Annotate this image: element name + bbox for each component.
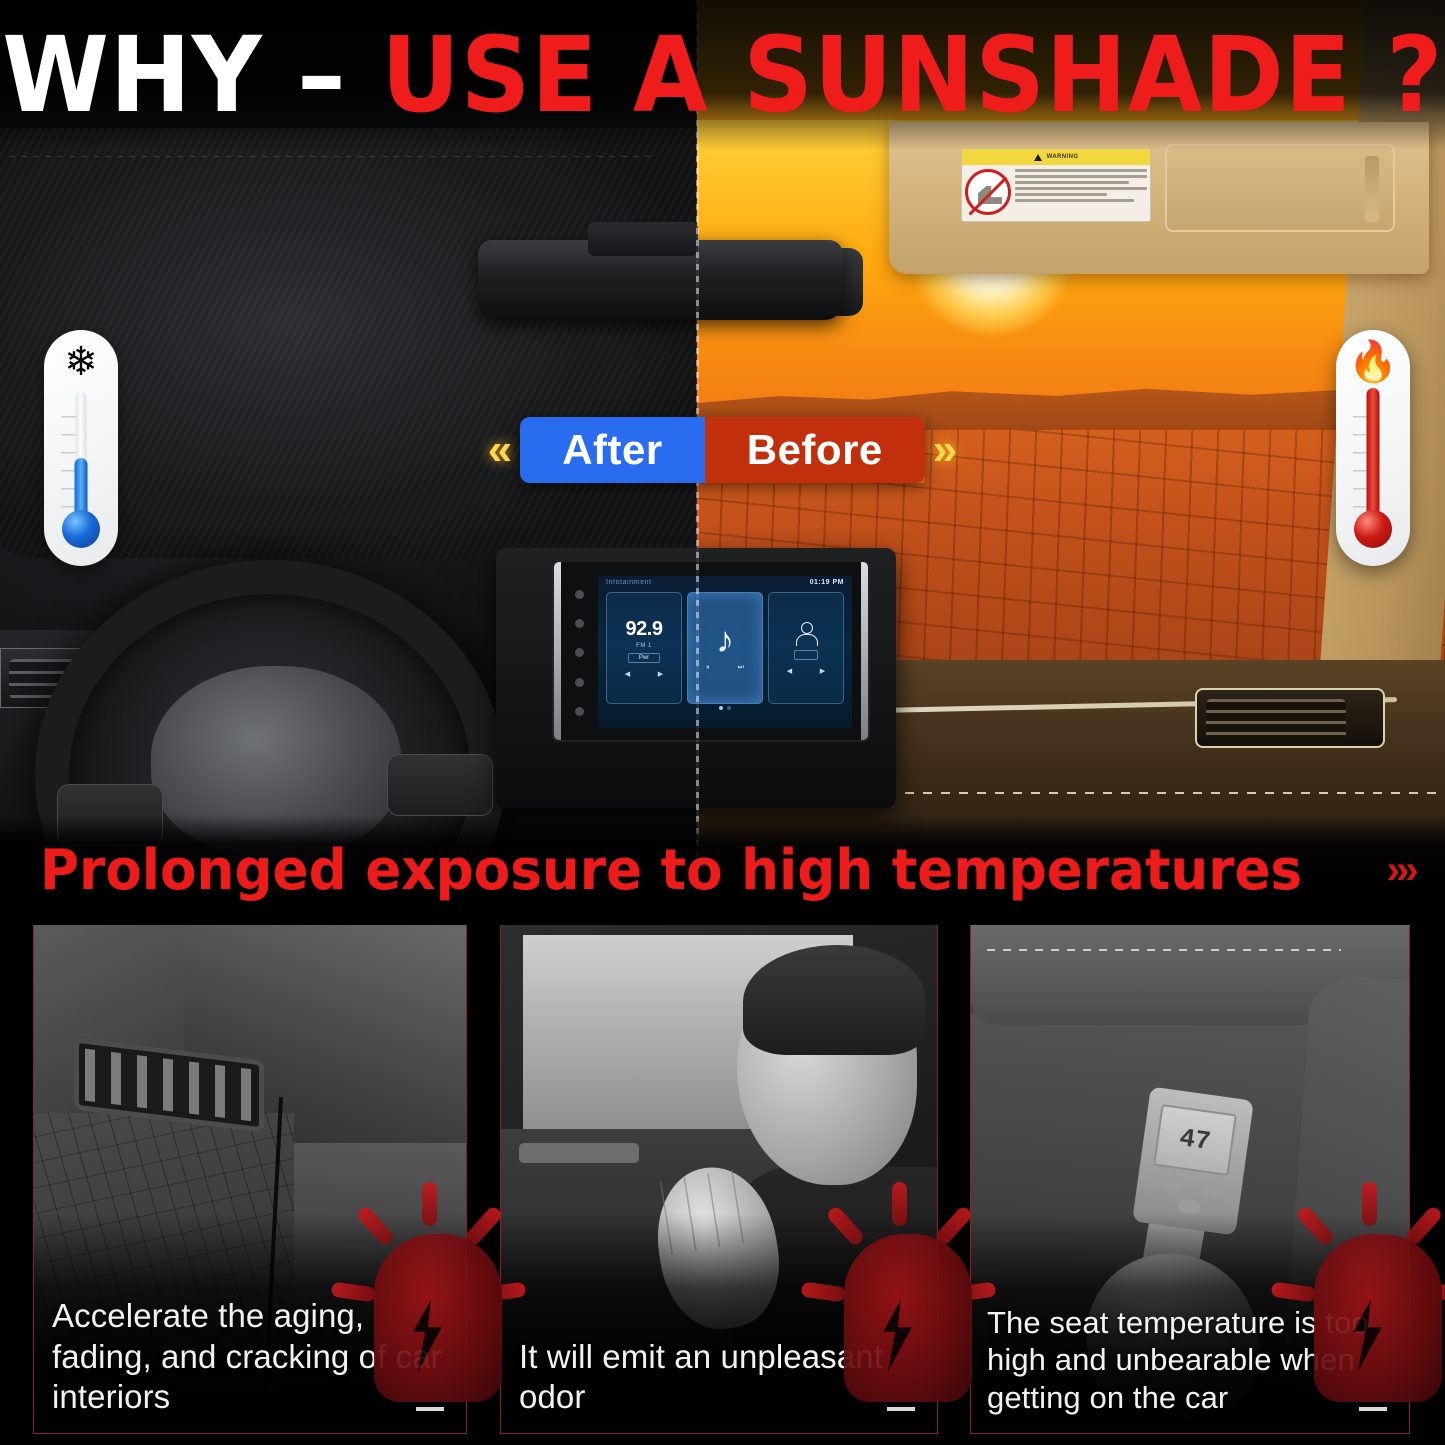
warning-label-lines [1015, 169, 1147, 215]
warning-label-body [962, 165, 1150, 219]
panel-underscore-2 [887, 1407, 915, 1411]
sunshade-infographic: WARNING [0, 0, 1445, 1445]
thermometer-gun-reading: 47 [1153, 1104, 1237, 1176]
consequence-panels: Accelerate the aging, fading, and cracki… [0, 905, 1445, 1445]
head-unit-status-bar: Infotainment 01:19 PM [598, 576, 852, 586]
radio-preset-chip[interactable]: Pwr [628, 653, 660, 663]
snowflake-icon: ❄ [44, 342, 118, 382]
warning-label-header: WARNING [962, 149, 1150, 165]
chevron-left-icon: « [488, 428, 512, 472]
thermometer-bulb-hot [1354, 510, 1392, 548]
panel-seat-temperature[interactable]: 47 The seat temperature is too high and … [970, 916, 1410, 1434]
warning-triangle-icon [1034, 154, 1042, 161]
user-profile-icon [796, 622, 816, 646]
head-unit-side-buttons[interactable] [568, 580, 590, 726]
thermometer-bulb-cold [62, 510, 100, 548]
head-unit-brand-label: Infotainment [606, 579, 652, 586]
flame-icon: 🔥 [1336, 342, 1410, 382]
panel-caption-2: It will emit an unpleasant odor [519, 1337, 925, 1418]
radio-prev-button[interactable]: ◀ [625, 670, 630, 678]
steering-controls-right [387, 754, 493, 816]
head-unit-screen[interactable]: Infotainment 01:19 PM 92.9 FM 1 Pwr ◀ ▶ [598, 576, 852, 728]
page-indicator-dots[interactable] [598, 704, 852, 710]
air-vent-right [1195, 688, 1385, 748]
radio-tile[interactable]: 92.9 FM 1 Pwr ◀ ▶ [606, 592, 682, 704]
page-title-red: USE A SUNSHADE ? [381, 14, 1443, 136]
radio-band: FM 1 [636, 643, 652, 649]
infotainment-head-unit[interactable]: Infotainment 01:19 PM 92.9 FM 1 Pwr ◀ ▶ [552, 560, 870, 742]
head-unit-button-mute[interactable] [575, 648, 584, 657]
warning-label-text: WARNING [1047, 153, 1079, 161]
head-unit-clock: 01:19 PM [810, 579, 844, 586]
head-unit-trim-right [861, 562, 868, 740]
subtitle-band: Prolonged exposure to high temperatures … [0, 815, 1445, 925]
head-unit-trim-left [554, 562, 561, 740]
head-unit-button-home[interactable] [575, 678, 584, 687]
radio-frequency: 92.9 [626, 619, 663, 639]
visor-mirror-cover-right [1165, 144, 1395, 232]
before-label: Before [705, 417, 925, 483]
subtitle-text: Prolonged exposure to high temperatures [40, 838, 1302, 903]
title-band: WHY – USE A SUNSHADE ? [0, 0, 1445, 150]
profile-next-button[interactable]: ▶ [820, 667, 825, 675]
no-child-seat-icon [965, 169, 1011, 215]
rearview-mirror [478, 240, 843, 320]
media-pause-button[interactable]: ⏸ [706, 664, 710, 672]
airbag-warning-label: WARNING [961, 148, 1151, 222]
head-unit-button-power[interactable] [575, 590, 584, 599]
panel-caption-3: The seat temperature is too high and unb… [987, 1304, 1397, 1417]
profile-name-chip [794, 650, 818, 660]
profile-tile[interactable]: ◀ ▶ [768, 592, 844, 704]
panel-underscore-3 [1359, 1407, 1387, 1411]
panel-underscore-1 [416, 1407, 444, 1411]
radio-next-button[interactable]: ▶ [658, 670, 663, 678]
panel-caption-1: Accelerate the aging, fading, and cracki… [52, 1296, 454, 1417]
before-after-badge: After Before [520, 417, 925, 483]
subtitle-arrows-icon: ››› [1387, 848, 1415, 893]
before-after-badge-row: « After Before » [0, 414, 1445, 486]
media-skip-button[interactable]: ⏭ [738, 664, 744, 672]
panel-interior-aging[interactable]: Accelerate the aging, fading, and cracki… [33, 916, 467, 1434]
panel-unpleasant-odor[interactable]: It will emit an unpleasant odor [500, 916, 938, 1434]
profile-prev-button[interactable]: ◀ [787, 667, 792, 675]
head-unit-button-menu[interactable] [575, 707, 584, 716]
page-title-white: WHY – [2, 14, 346, 136]
page-title: WHY – USE A SUNSHADE ? [2, 23, 1443, 127]
after-label: After [520, 417, 705, 483]
head-unit-button-volume[interactable] [575, 619, 584, 628]
chevron-right-icon: » [933, 428, 957, 472]
music-note-icon: ♪ [716, 624, 734, 656]
head-unit-tiles: 92.9 FM 1 Pwr ◀ ▶ ♪ ⏸ ⏭ [598, 586, 852, 704]
